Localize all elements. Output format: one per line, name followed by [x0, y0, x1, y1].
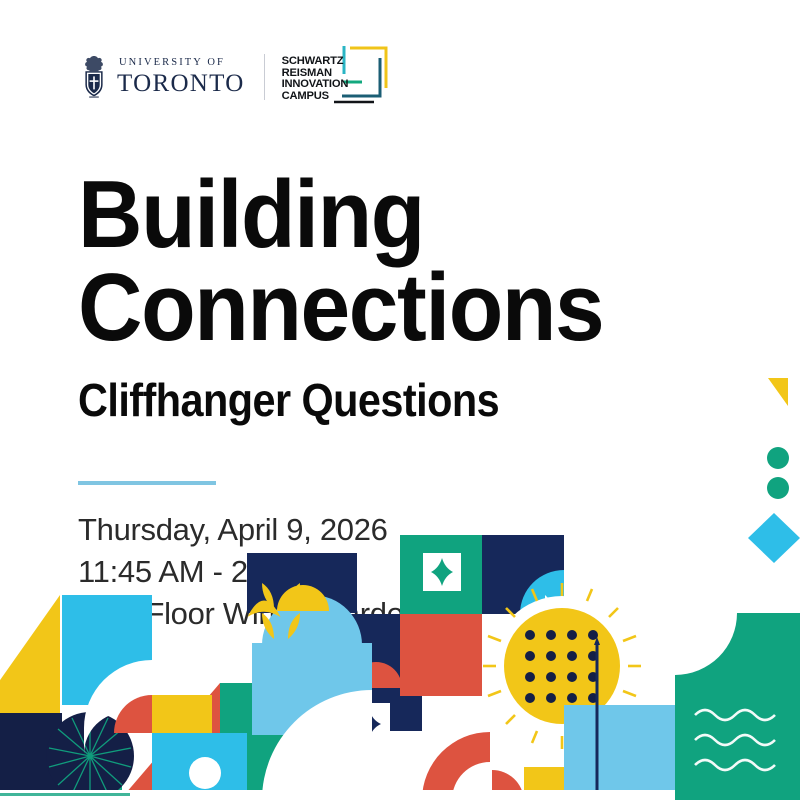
light-blue-line-block — [564, 705, 675, 800]
navy-book-tile — [608, 733, 675, 800]
yellow-triangle — [768, 378, 788, 406]
white-curve-cut — [280, 735, 372, 800]
event-time: 11:45 AM - 2:00 PM — [78, 551, 718, 593]
poster-title-line-2: Connections — [78, 261, 673, 354]
green-small-block — [566, 733, 608, 773]
university-of-toronto-logo: UNIVERSITY OF TORONTO — [80, 54, 245, 100]
uoft-crest-icon — [80, 54, 108, 100]
red-triangle — [120, 683, 252, 800]
green-dot-lower — [767, 477, 789, 499]
wave-lines-left — [72, 744, 99, 782]
book-icon — [628, 747, 662, 784]
poster-title-line-1: Building — [78, 168, 673, 261]
bottom-teal-edge — [675, 790, 800, 800]
red-arch — [422, 732, 490, 800]
uoft-wordmark: UNIVERSITY OF TORONTO — [117, 58, 245, 97]
navy-star-icon — [357, 709, 381, 739]
green-square — [220, 683, 302, 800]
event-location: 10th Floor Winter Gardens — [78, 593, 718, 635]
white-star-tile-bg — [348, 703, 390, 745]
red-quarter-round — [114, 695, 152, 733]
navy-left-block — [0, 713, 62, 800]
sri-line4: CAMPUS — [282, 91, 349, 103]
bottom-white-edge — [0, 790, 800, 800]
navy-fan-circle — [46, 712, 134, 800]
accent-divider-rule — [78, 481, 216, 485]
white-arc-band — [262, 690, 372, 800]
yellow-strip — [152, 695, 212, 733]
green-wave-square-left — [60, 733, 122, 800]
right-decoration-column — [730, 370, 800, 570]
bottom-teal-line-left — [0, 793, 130, 796]
headline-block: Building Connections Cliffhanger Questio… — [78, 168, 718, 635]
uoft-line1: UNIVERSITY OF — [117, 58, 245, 69]
logo-divider — [264, 54, 265, 100]
wave-lines-right — [695, 710, 775, 770]
sri-wordmark: SCHWARTZ REISMAN INNOVATION CAMPUS — [282, 56, 349, 102]
cyan-diamond — [748, 513, 800, 563]
teal-wave-panel — [675, 675, 800, 800]
white-elbow-curve — [84, 660, 152, 754]
gold-triangle-far-left — [28, 725, 52, 753]
sri-line1: SCHWARTZ — [282, 56, 349, 68]
sun-dot-grid — [525, 630, 598, 703]
poster-subtitle: Cliffhanger Questions — [78, 376, 654, 424]
event-details: Thursday, April 9, 2026 11:45 AM - 2:00 … — [78, 509, 718, 635]
teal-block-top-right — [737, 613, 800, 675]
yellow-small-block — [524, 767, 568, 800]
navy-line-cap — [594, 637, 600, 645]
event-poster: UNIVERSITY OF TORONTO SCHWARTZ REISMAN I… — [0, 0, 800, 800]
event-date: Thursday, April 9, 2026 — [78, 509, 718, 551]
green-dot-upper — [767, 447, 789, 469]
cyan-dot-block — [152, 733, 247, 800]
fan-rays-icon — [49, 715, 131, 798]
light-blue-block — [252, 643, 372, 735]
logo-bar: UNIVERSITY OF TORONTO SCHWARTZ REISMAN I… — [80, 44, 397, 110]
white-dot — [189, 757, 221, 789]
red-quarter-arc — [492, 770, 524, 800]
orange-semicircle — [350, 662, 402, 688]
schwartz-reisman-logo: SCHWARTZ REISMAN INNOVATION CAMPUS — [282, 44, 397, 110]
yellow-big-triangle — [0, 595, 60, 733]
red-arch-left-edge — [0, 750, 35, 800]
uoft-line2: TORONTO — [117, 71, 245, 96]
